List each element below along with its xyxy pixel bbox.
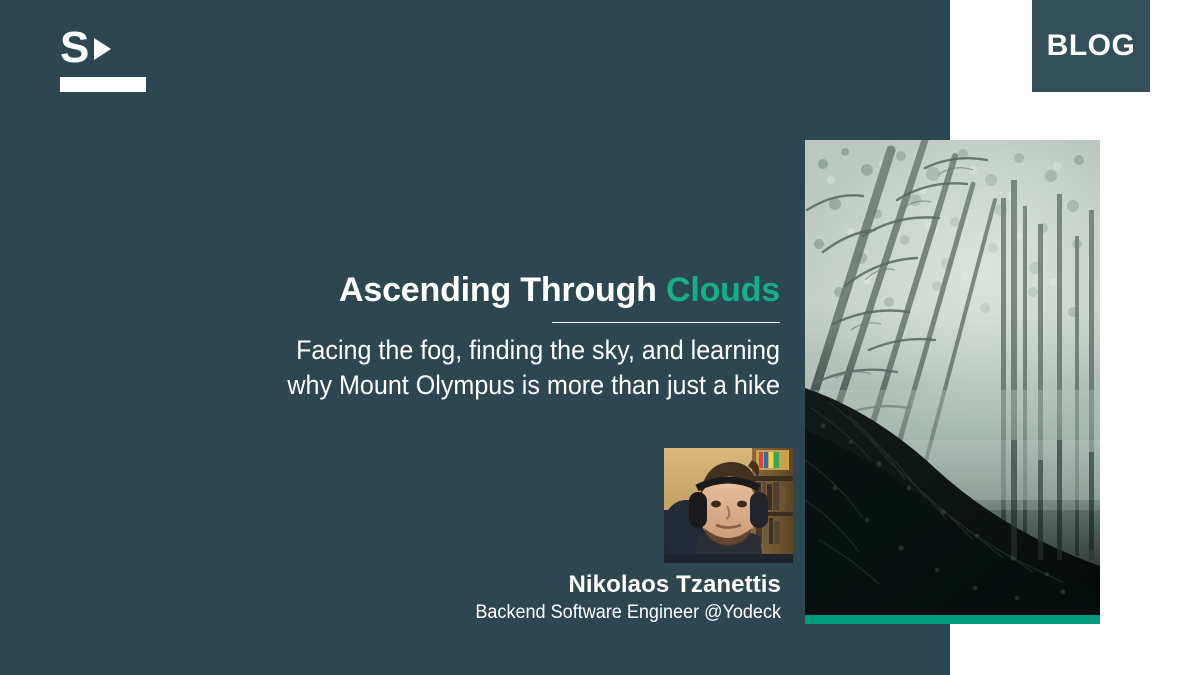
slide-canvas: S BLOG Ascending Through Clouds Facing t… [0, 0, 1200, 675]
blog-badge[interactable]: BLOG [1032, 0, 1150, 92]
blog-badge-label: BLOG [1047, 31, 1136, 61]
logo-mark-row: S [60, 26, 200, 70]
page-title: Ascending Through Clouds [0, 268, 780, 312]
avatar-illustration [664, 448, 793, 563]
headline-accent: Clouds [666, 271, 780, 309]
hero-accent-bar [805, 615, 1100, 624]
hero-image [805, 140, 1100, 615]
author-byline: Nikolaos Tzanettis Backend Software Engi… [0, 570, 781, 626]
author-name: Nikolaos Tzanettis [0, 570, 781, 600]
hero-forest-illustration [805, 140, 1100, 615]
avatar [664, 448, 793, 563]
logo-letter-s: S [60, 26, 88, 70]
subtitle: Facing the fog, finding the sky, and lea… [55, 333, 780, 403]
author-role: Backend Software Engineer @Yodeck [39, 600, 781, 626]
logo-underline-bar [60, 77, 146, 92]
title-divider [552, 322, 780, 323]
brand-logo[interactable]: S [60, 26, 200, 96]
play-triangle-icon [94, 38, 111, 60]
headline-container: Ascending Through Clouds [0, 268, 780, 312]
headline-plain: Ascending Through [339, 271, 657, 309]
